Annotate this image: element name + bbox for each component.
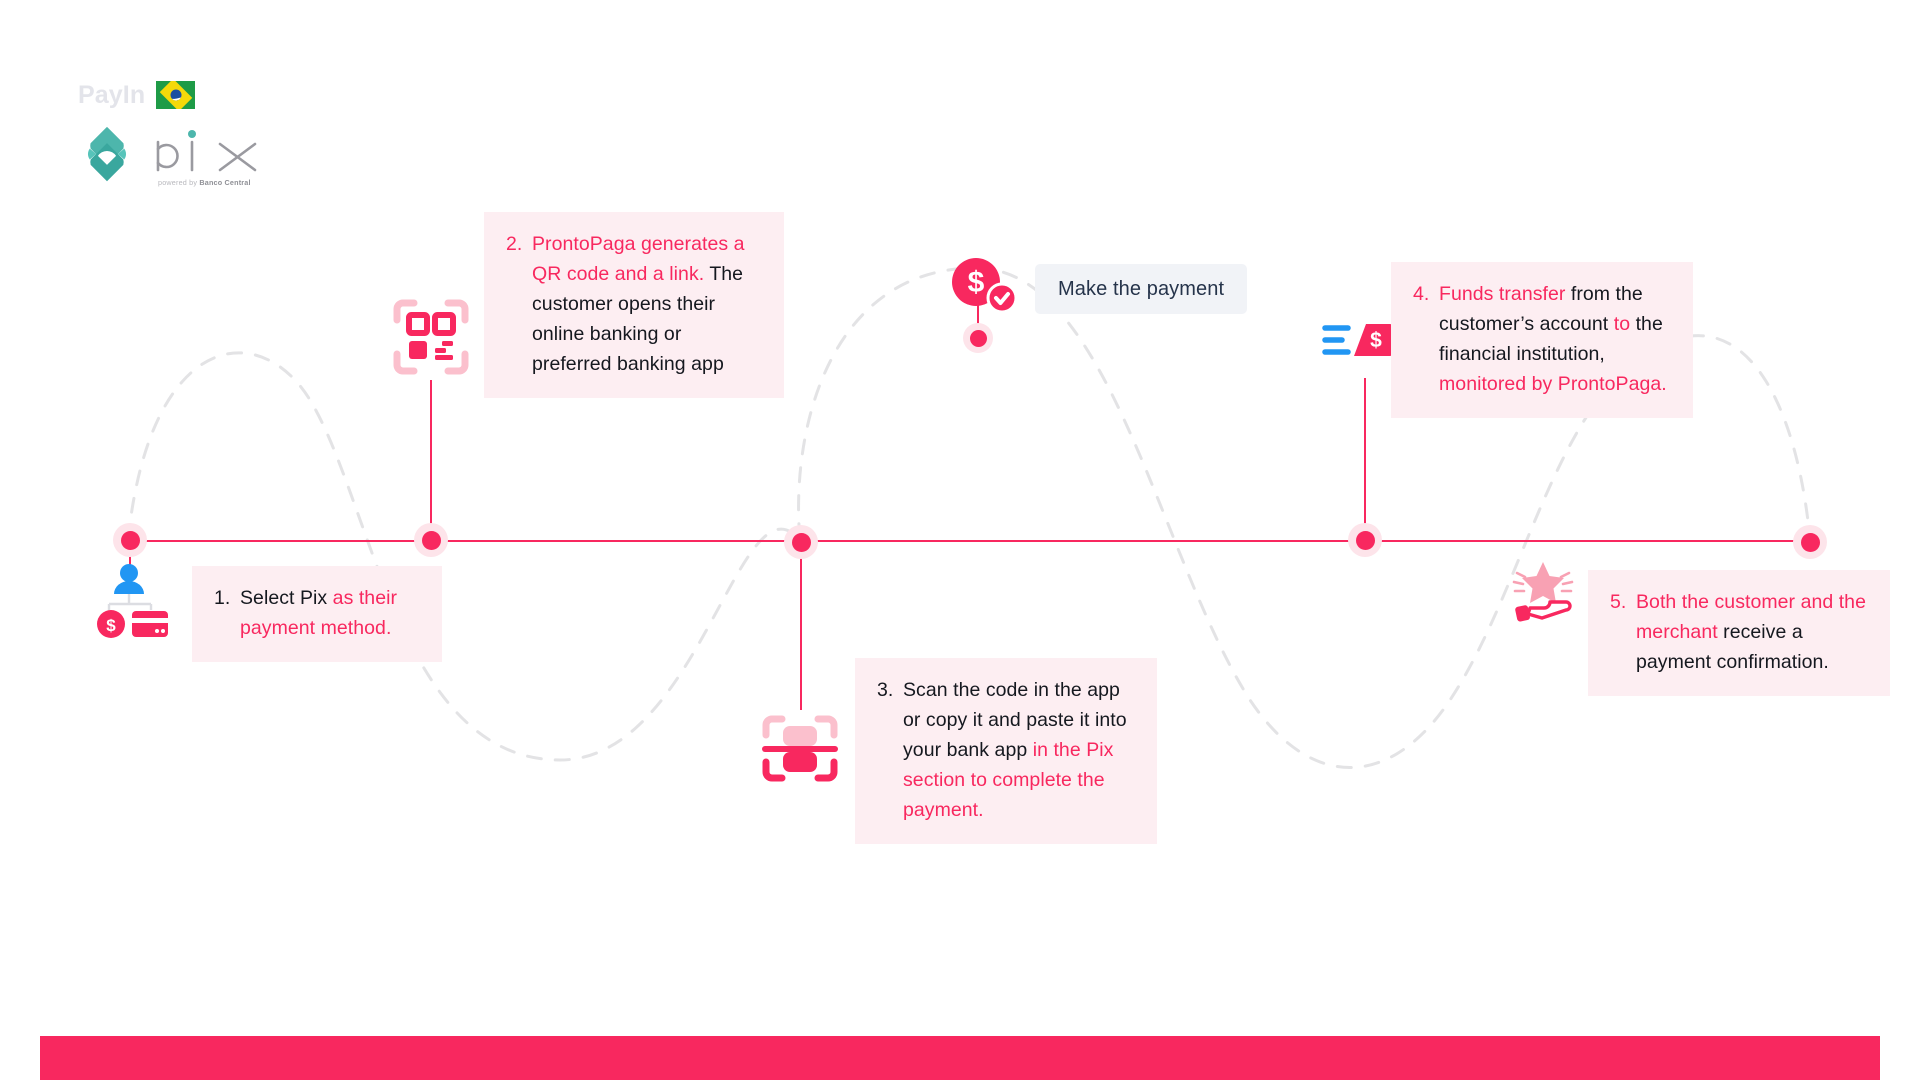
dollar-check-icon: $ xyxy=(952,258,1016,319)
stem-node-3 xyxy=(800,540,802,710)
step-card-1: 1. Select Pix as their payment method. xyxy=(192,566,442,662)
step-text-2: ProntoPaga generates a QR code and a lin… xyxy=(532,229,762,379)
stem-node-2 xyxy=(430,380,432,540)
payin-row: PayIn xyxy=(78,78,308,112)
timeline-node-1[interactable] xyxy=(113,523,147,557)
text-segment: monitored by ProntoPaga. xyxy=(1439,373,1667,395)
person-payment-methods-icon: $ xyxy=(96,560,170,643)
step-number-5: 5. xyxy=(1610,587,1636,617)
payin-label: PayIn xyxy=(78,83,145,108)
step-number-2: 2. xyxy=(506,229,532,259)
stem-node-4 xyxy=(1364,378,1366,540)
step-card-3: 3. Scan the code in the app or copy it a… xyxy=(855,658,1157,844)
pix-mark-icon xyxy=(78,125,136,183)
make-the-payment-chip[interactable]: Make the payment xyxy=(1035,264,1247,314)
step-text-4: Funds transfer from the customer’s accou… xyxy=(1439,279,1671,399)
step-text-5: Both the customer and the merchant recei… xyxy=(1636,587,1868,677)
bottom-accent-bar xyxy=(40,1036,1880,1080)
money-transfer-icon: $ xyxy=(1322,316,1394,373)
pix-wordmark-block: powered by Banco Central xyxy=(145,125,263,190)
timeline-node-4[interactable] xyxy=(1348,523,1382,557)
step-text-1: Select Pix as their payment method. xyxy=(240,583,420,643)
timeline-node-milestone[interactable] xyxy=(963,323,993,353)
pix-logo: powered by Banco Central xyxy=(78,125,308,190)
svg-text:$: $ xyxy=(1370,329,1382,352)
step-card-5: 5. Both the customer and the merchant re… xyxy=(1588,570,1890,696)
text-segment: Select Pix xyxy=(240,587,333,609)
svg-text:$: $ xyxy=(968,266,985,299)
text-segment: Funds transfer xyxy=(1439,283,1571,305)
timeline-axis xyxy=(128,540,1810,542)
timeline-node-3[interactable] xyxy=(784,525,818,559)
hand-star-icon xyxy=(1508,558,1578,629)
step-number-3: 3. xyxy=(877,675,903,705)
timeline-node-2[interactable] xyxy=(414,523,448,557)
step-number-4: 4. xyxy=(1413,279,1439,309)
step-card-4: 4. Funds transfer from the customer’s ac… xyxy=(1391,262,1693,418)
text-segment: to xyxy=(1614,313,1636,335)
scan-code-icon xyxy=(760,712,840,791)
pix-powered-by-text: powered by Banco Central xyxy=(145,178,251,187)
brand-block: PayIn powe xyxy=(78,78,308,188)
qr-code-icon xyxy=(392,298,470,381)
timeline-node-5[interactable] xyxy=(1793,525,1827,559)
step-number-1: 1. xyxy=(214,583,240,613)
svg-text:$: $ xyxy=(106,616,116,635)
brazil-flag-icon xyxy=(156,81,195,109)
step-text-3: Scan the code in the app or copy it and … xyxy=(903,675,1135,825)
pix-wordmark xyxy=(145,130,263,172)
step-card-2: 2. ProntoPaga generates a QR code and a … xyxy=(484,212,784,398)
